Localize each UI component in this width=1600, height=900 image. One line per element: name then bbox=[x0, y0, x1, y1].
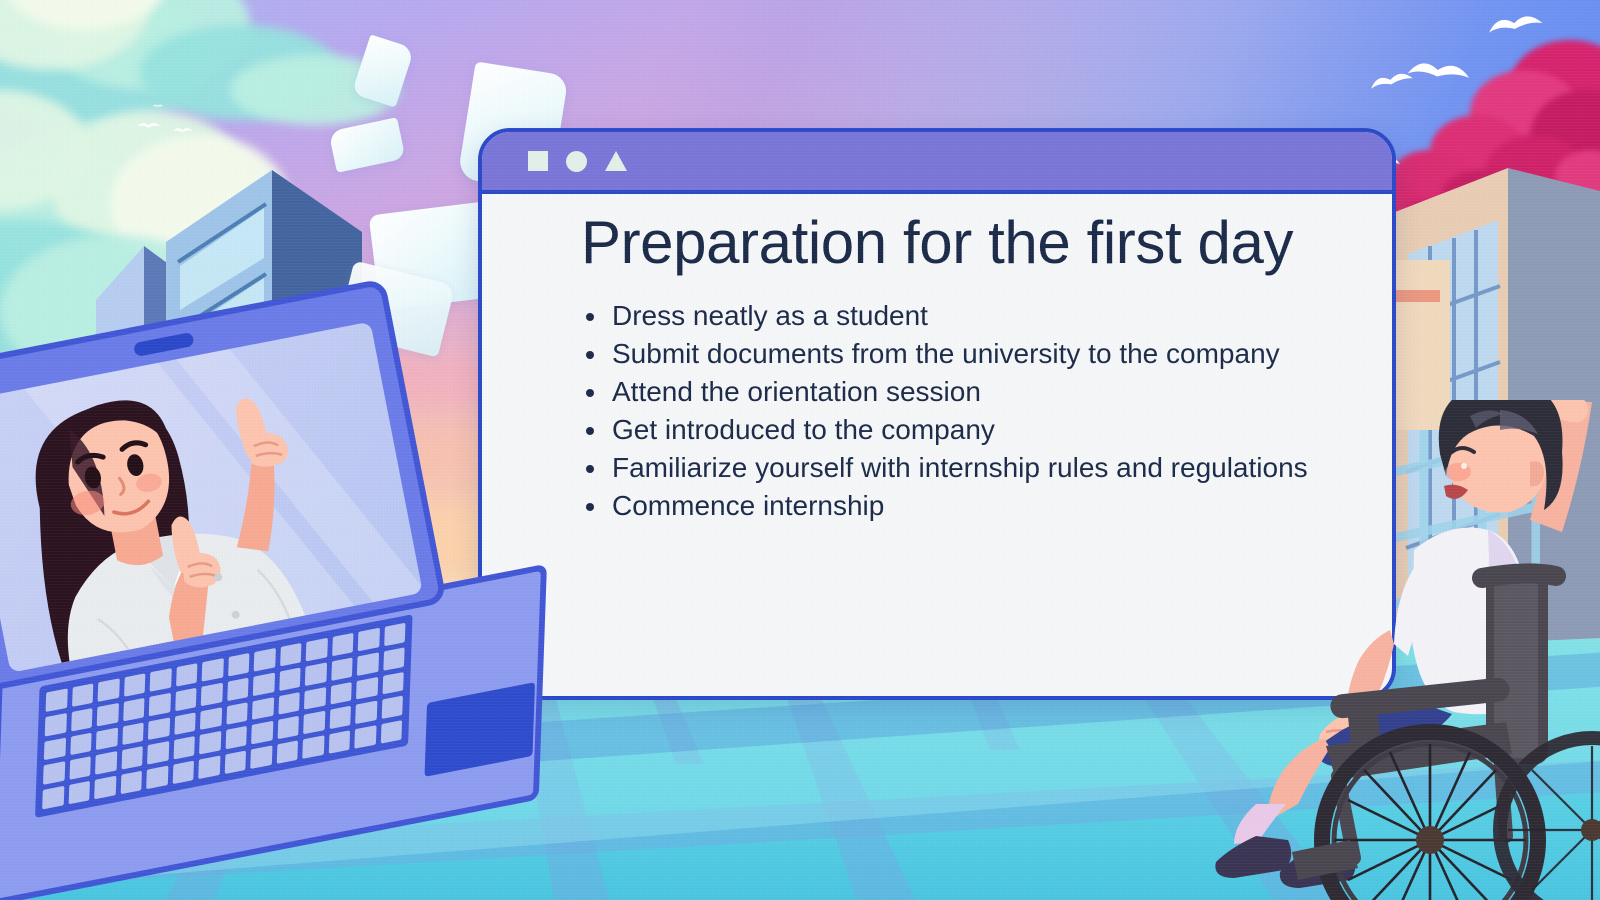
slide-canvas: Preparation for the first day Dress neat… bbox=[0, 0, 1600, 900]
card-titlebar bbox=[482, 132, 1392, 194]
triangle-shape-icon bbox=[605, 151, 627, 171]
page-title: Preparation for the first day bbox=[522, 208, 1352, 279]
bird-icon bbox=[136, 118, 162, 131]
bird-icon bbox=[152, 102, 164, 109]
student-in-wheelchair-illustration bbox=[1200, 400, 1600, 900]
list-item: Dress neatly as a student bbox=[584, 297, 1352, 335]
laptop-illustration bbox=[0, 320, 550, 880]
bird-icon bbox=[172, 124, 194, 135]
list-item: Submit documents from the university to … bbox=[584, 335, 1352, 373]
webcam-icon bbox=[133, 332, 195, 357]
laptop-trackpad bbox=[424, 682, 535, 777]
square-shape-icon bbox=[528, 151, 548, 171]
circle-shape-icon bbox=[566, 151, 587, 172]
